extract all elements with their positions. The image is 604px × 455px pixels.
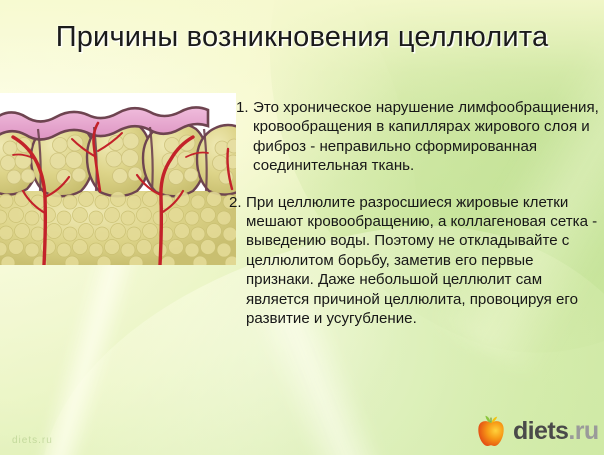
paragraph-1-marker: 1. bbox=[236, 98, 249, 117]
paragraph-1-text: Это хроническое нарушение лимфообращиени… bbox=[253, 99, 599, 174]
logo-name-primary: diets bbox=[513, 417, 568, 445]
corner-watermark: diets.ru bbox=[12, 435, 53, 446]
logo-name-suffix: .ru bbox=[568, 417, 598, 445]
paragraph-2-marker: 2. bbox=[229, 193, 242, 212]
cellulite-diagram-svg bbox=[0, 93, 236, 265]
slide-body-text: 1. Это хроническое нарушение лимфообращи… bbox=[229, 98, 601, 328]
logo-wordmark: diets.ru bbox=[513, 419, 599, 444]
body-paragraph-2: 2. При целлюлите разросшиеся жировые кле… bbox=[229, 193, 601, 329]
presentation-slide: Причины возникновения целлюлита bbox=[0, 0, 604, 455]
apple-icon bbox=[476, 415, 506, 447]
paragraph-2-text: При целлюлите разросшиеся жировые клетки… bbox=[246, 194, 597, 327]
slide-title: Причины возникновения целлюлита bbox=[0, 22, 604, 52]
body-paragraph-1: 1. Это хроническое нарушение лимфообращи… bbox=[229, 98, 601, 176]
diets-ru-logo[interactable]: diets.ru bbox=[476, 411, 602, 451]
cellulite-cross-section-image bbox=[0, 93, 236, 265]
